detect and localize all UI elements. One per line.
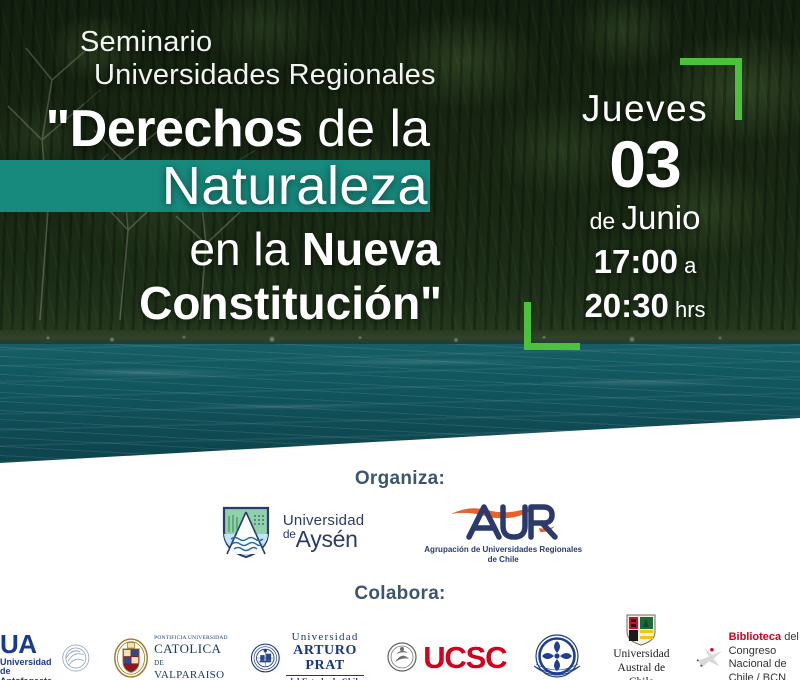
event-time-end-row: 20:30 hrs [540,287,750,329]
ucsc-seal-icon [386,640,418,676]
title-line-1-bold: "Derechos [46,100,303,158]
title-line-1-rest: de la [303,100,430,158]
colabora-logo-row: UA Universidad de Antofagasta [0,612,800,680]
aur-subtitle: Agrupación de Universidades Regionales d… [424,545,582,565]
ucsc-acronym: UCSC [423,640,506,676]
event-time-start-row: 17:00 a [540,243,750,285]
event-date-block: Jueves 03 de Junio 17:00 a 20:30 hrs [540,88,750,329]
uach-crest-icon [623,612,659,646]
uach-wordmark: Universidad Austral de Chile Conocimient… [608,648,674,680]
title-highlight-row: Naturaleza [0,160,500,216]
logo-pucv: PONTIFICIA UNIVERSIDAD CATOLICA DE VALPA… [113,635,228,680]
aysen-wordmark: Universidad deAysén [283,513,364,551]
title-line-3-bold: Nueva [302,223,440,275]
event-time-separator: a [678,253,696,278]
pucv-wordmark: PONTIFICIA UNIVERSIDAD CATOLICA DE VALPA… [154,635,228,680]
page-title: "Derechos de la Naturaleza en la Nueva C… [0,100,500,330]
unap-seal-icon [250,636,281,680]
pucv-crest-icon [113,635,149,680]
event-weekday: Jueves [540,88,750,130]
ua-line-2: de Antofagasta [0,667,56,680]
aur-subtitle-line-1: Agrupación de Universidades Regionales [424,545,582,555]
logo-universidad-de-aysen: Universidad deAysén [218,504,364,560]
aysen-shield-icon [218,504,274,560]
organiza-logo-row: Universidad deAysén Agrupación de Univer… [0,498,800,565]
ua-acronym: UA [0,631,56,658]
aysen-line-2-name: Aysén [296,526,358,552]
event-time-start: 17:00 [594,243,678,280]
pucv-line-1: CATOLICA [154,642,228,657]
bcn-wordmark: Biblioteca del Congreso Nacional de Chil… [729,631,800,680]
uach-line-1: Universidad Austral de Chile [608,648,674,680]
ua-wordmark: UA Universidad de Antofagasta [0,631,56,680]
logo-bcn: Biblioteca del Congreso Nacional de Chil… [696,631,800,680]
event-month-name: Junio [622,199,701,236]
colabora-label: Colabora: [0,583,800,605]
pucv-line-2-prefix: DE [154,659,164,667]
event-month-prefix: de [590,208,622,234]
pucv-line-2-name: VALPARAISO [154,669,224,680]
title-line-4: Constitución" [0,276,500,330]
bcn-line-2: Nacional de Chile / BCN [729,658,800,680]
bcn-star-icon [696,638,723,678]
organiza-label: Organiza: [0,468,800,490]
unap-wordmark: Universidad ARTURO PRAT del Estado de Ch… [286,631,364,680]
logo-universidad-arturo-prat: Universidad ARTURO PRAT del Estado de Ch… [250,631,364,680]
logo-universidad-de-la-frontera [528,630,586,680]
aysen-line-2: deAysén [283,528,364,551]
kicker-line-1: Seminario [80,26,212,58]
aur-acronym-icon [443,498,563,544]
logo-aur: Agrupación de Universidades Regionales d… [424,498,582,565]
unap-line-2: ARTURO PRAT [286,643,364,676]
antofagasta-emblem-icon [61,638,91,678]
event-month: de Junio [540,198,750,241]
logo-universidad-de-antofagasta: UA Universidad de Antofagasta [0,631,91,680]
event-time-end: 20:30 [584,287,668,324]
logo-universidad-austral-de-chile: Universidad Austral de Chile Conocimient… [608,612,674,680]
bcn-line-1-bold: Biblioteca [729,631,782,643]
event-day-number: 03 [540,130,750,198]
title-line-1: "Derechos de la [0,100,500,158]
poster: Seminario Universidades Regionales "Dere… [0,0,800,680]
ufro-seal-icon [528,630,586,680]
title-line-3: en la Nueva [0,222,500,276]
title-line-2: Naturaleza [0,160,500,212]
aur-subtitle-line-2: de Chile [424,555,582,565]
logo-ucsc: UCSC [386,640,506,676]
event-time-unit: hrs [669,297,706,322]
aysen-line-2-prefix: de [283,527,296,541]
pucv-line-2: DE VALPARAISO [154,656,228,680]
bcn-line-1: Biblioteca del Congreso [729,631,800,659]
kicker-line-2: Universidades Regionales [80,59,510,92]
unap-line-1: Universidad [286,631,364,643]
event-kicker: Seminario Universidades Regionales [80,26,510,92]
title-line-3-light: en la [189,223,302,275]
